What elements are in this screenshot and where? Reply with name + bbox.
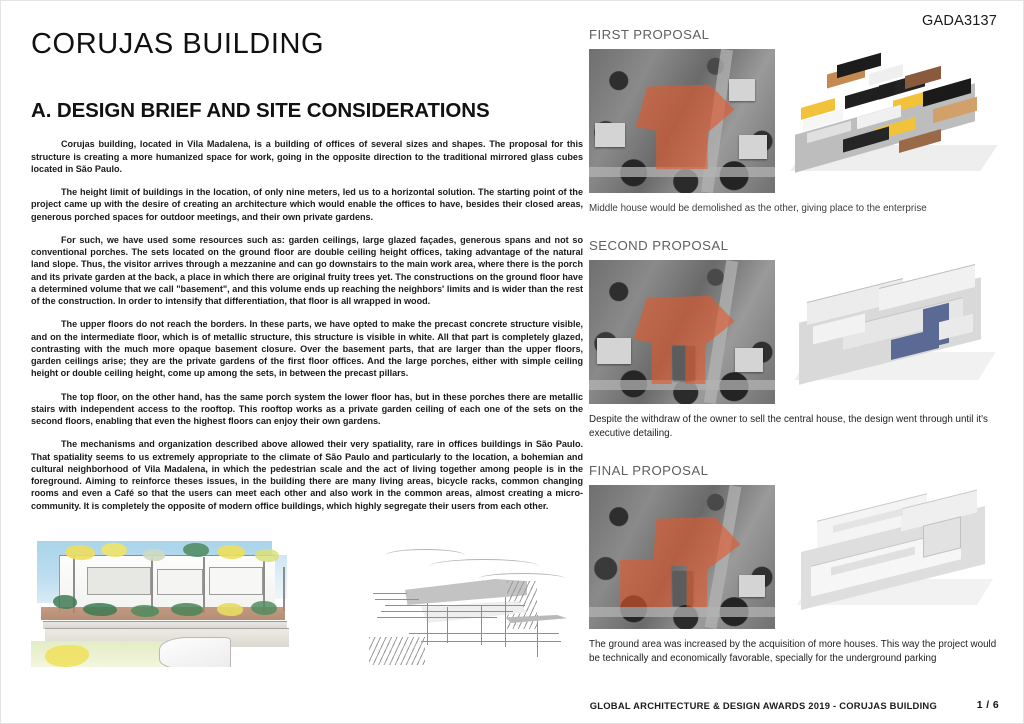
presentation-page: GADA3137 CORUJAS BUILDING A. DESIGN BRIE… bbox=[0, 0, 1024, 724]
proposal-caption-second: Despite the withdraw of the owner to sel… bbox=[589, 413, 1007, 441]
body-paragraph-1: Corujas building, located in Vila Madale… bbox=[31, 138, 583, 175]
body-paragraph-5: The top floor, on the other hand, has th… bbox=[31, 391, 583, 428]
sketch-column bbox=[447, 607, 448, 643]
proposal-heading-second: SECOND PROPOSAL bbox=[589, 238, 1007, 253]
sketch-foliage bbox=[101, 543, 127, 557]
body-paragraph-3: For such, we have used some resources su… bbox=[31, 234, 583, 308]
proposal-block-final: FINAL PROPOSAL bbox=[589, 463, 1007, 666]
aerial-neighbor-roof bbox=[735, 348, 763, 372]
section-title: A. DESIGN BRIEF AND SITE CONSIDERATIONS bbox=[31, 99, 583, 123]
spacer bbox=[589, 222, 1007, 238]
image-pair-final bbox=[589, 485, 1007, 629]
sketch-foliage bbox=[255, 549, 279, 562]
footer-page-number: 1 / 6 bbox=[977, 700, 999, 711]
body-paragraph-2: The height limit of buildings in the loc… bbox=[31, 186, 583, 223]
proposal-block-second: SECOND PROPOSAL bbox=[589, 238, 1007, 441]
sketch-foliage bbox=[251, 601, 277, 615]
proposal-block-first: FIRST PROPOSAL bbox=[589, 27, 1007, 216]
aerial-site-plan-final bbox=[589, 485, 775, 629]
sketch-column bbox=[427, 603, 428, 645]
sketch-foliage bbox=[131, 605, 159, 617]
aerial-site-plan-second bbox=[589, 260, 775, 404]
sketch-guide-line bbox=[377, 617, 497, 618]
massing-model-white bbox=[783, 485, 1007, 629]
sketch-column bbox=[537, 615, 538, 657]
aerial-neighbor-roof bbox=[597, 338, 631, 364]
sketch-guide-line bbox=[375, 599, 419, 600]
sketch-panel bbox=[209, 567, 263, 595]
sketch-hatched-ground bbox=[369, 637, 425, 665]
sketch-column bbox=[283, 567, 285, 611]
sketch-panel bbox=[87, 567, 151, 595]
sketch-guide-line bbox=[373, 593, 407, 594]
watercolor-elevation-sketch bbox=[31, 537, 293, 667]
proposal-caption-final: The ground area was increased by the acq… bbox=[589, 638, 1007, 666]
page-title: CORUJAS BUILDING bbox=[31, 29, 583, 61]
sketch-column bbox=[151, 557, 153, 613]
sketch-foliage bbox=[83, 603, 117, 616]
sketch-foliage bbox=[53, 595, 77, 609]
sketch-path bbox=[159, 637, 231, 667]
spacer bbox=[589, 447, 1007, 463]
right-column: FIRST PROPOSAL bbox=[589, 27, 1007, 672]
sketch-row bbox=[31, 537, 583, 669]
image-pair-second bbox=[589, 260, 1007, 404]
massing-model-gray-blue bbox=[783, 260, 1007, 404]
sketch-cloud bbox=[429, 559, 539, 574]
left-column: CORUJAS BUILDING A. DESIGN BRIEF AND SIT… bbox=[31, 29, 583, 523]
sketch-column bbox=[505, 597, 506, 647]
sketch-foliage bbox=[143, 549, 165, 561]
aerial-neighbor-roof bbox=[595, 123, 625, 147]
aerial-road bbox=[589, 607, 775, 617]
sketch-terrace-band bbox=[41, 607, 285, 620]
sketch-foliage bbox=[65, 545, 95, 560]
sketch-foliage bbox=[217, 603, 243, 616]
aerial-neighbor-roof bbox=[739, 135, 767, 159]
sketch-foliage bbox=[171, 603, 203, 616]
massing-model-colored bbox=[783, 49, 1007, 193]
footer-text: GLOBAL ARCHITECTURE & DESIGN AWARDS 2019… bbox=[590, 700, 937, 711]
sketch-column bbox=[203, 557, 205, 613]
proposal-heading-final: FINAL PROPOSAL bbox=[589, 463, 1007, 478]
sketch-guide-line bbox=[385, 605, 525, 606]
aerial-site-plan-first bbox=[589, 49, 775, 193]
sketch-panel bbox=[157, 569, 203, 595]
sketch-column bbox=[481, 605, 482, 645]
pencil-perspective-sketch bbox=[369, 537, 583, 667]
aerial-neighbor-roof bbox=[739, 575, 765, 597]
image-pair-first bbox=[589, 49, 1007, 193]
body-paragraph-4: The upper floors do not reach the border… bbox=[31, 318, 583, 379]
proposal-heading-first: FIRST PROPOSAL bbox=[589, 27, 1007, 42]
sketch-foliage bbox=[217, 545, 245, 559]
aerial-neighbor-roof bbox=[729, 79, 755, 101]
aerial-road bbox=[589, 380, 775, 390]
proposal-caption-first: Middle house would be demolished as the … bbox=[589, 202, 1007, 216]
sketch-foliage bbox=[183, 543, 209, 557]
body-paragraph-6: The mechanisms and organization describe… bbox=[31, 438, 583, 512]
model-volume-black bbox=[845, 82, 895, 109]
sketch-guide-line bbox=[421, 641, 561, 642]
